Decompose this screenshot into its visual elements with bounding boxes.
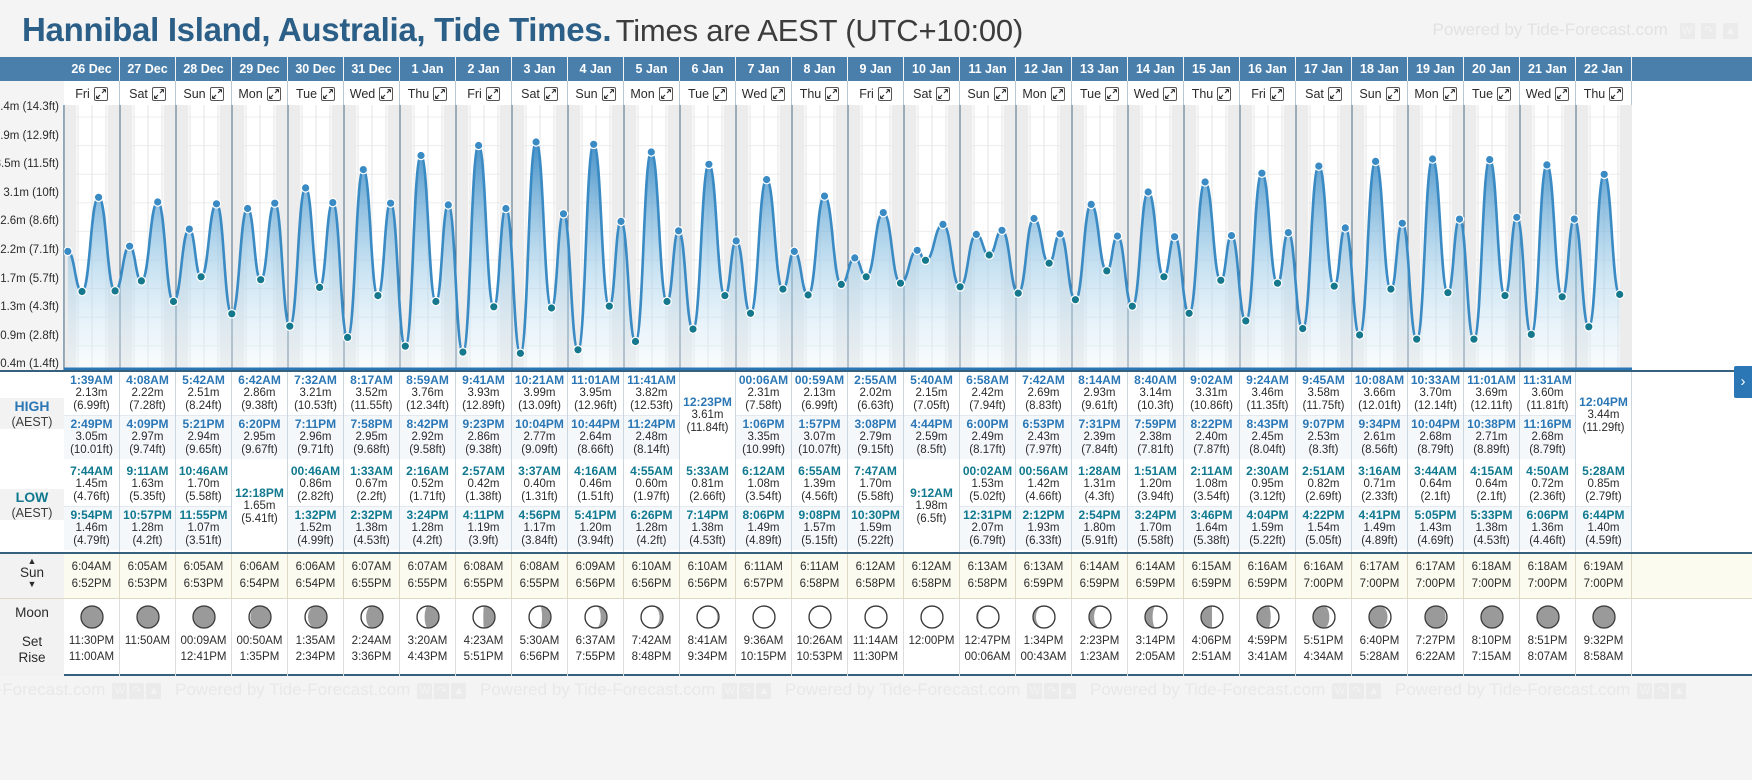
weekday-cell-thu[interactable]: Thu [1184, 81, 1240, 105]
low-tide-event: 3:16AM0.71m(2.33ft) [1352, 463, 1407, 506]
sunset-time: 6:55PM [400, 576, 455, 593]
tide-height-ft: (7.87ft) [1184, 444, 1239, 457]
watermark-badges: W↷▲ [1637, 681, 1688, 701]
high-tide-cell: 8:59AM3.76m(12.34ft)8:42PM2.92m(9.58ft) [400, 372, 456, 463]
weekday-cell-fri[interactable]: Fri [848, 81, 904, 105]
high-tide-event: 6:20PM2.95m(9.67ft) [232, 415, 287, 459]
low-tide-event: 6:06PM1.36m(4.46ft) [1520, 506, 1575, 550]
low-tide-cell: 4:55AM0.60m(1.97ft)6:26PM1.28m(4.2ft) [624, 463, 680, 554]
low-tide-cells: 7:44AM1.45m(4.76ft)9:54PM1.46m(4.79ft)9:… [64, 463, 1632, 554]
high-tide-event: 5:42AM2.51m(8.24ft) [176, 372, 231, 415]
tide-height-m: 1.38m [344, 522, 399, 535]
sunrise-time: 6:17AM [1408, 559, 1463, 576]
tide-height-m: 1.38m [1464, 522, 1519, 535]
sunset-time: 6:59PM [1072, 576, 1127, 593]
low-tide-cell: 9:11AM1.63m(5.35ft)10:57PM1.28m(4.2ft) [120, 463, 176, 554]
low-tide-cell: 2:57AM0.42m(1.38ft)4:11PM1.19m(3.9ft) [456, 463, 512, 554]
low-tide-cell: 3:16AM0.71m(2.33ft)4:41PM1.49m(4.89ft) [1352, 463, 1408, 554]
tide-time: 2:54PM [1072, 508, 1127, 522]
moonset-time: 1:34PM [1016, 633, 1071, 649]
expand-icon[interactable] [433, 87, 447, 101]
tide-height-ft: (11.84ft) [680, 422, 735, 435]
expand-icon[interactable] [544, 87, 558, 101]
tide-height-m: 2.59m [904, 431, 959, 444]
expand-icon[interactable] [602, 87, 616, 101]
sunset-time: 7:00PM [1520, 576, 1575, 593]
weekday-text: Fri [859, 82, 874, 105]
tide-height-ft: (3.12ft) [1240, 491, 1295, 504]
tide-height-m: 1.70m [1128, 522, 1183, 535]
weekday-cell-mon[interactable]: Mon [624, 81, 680, 105]
tide-time: 6:55AM [792, 464, 847, 478]
sun-cell: 6:06AM6:54PM [288, 554, 344, 600]
tide-height-ft: (10.01ft) [64, 444, 119, 457]
moonrise-time: 2:51AM [1184, 649, 1239, 665]
expand-icon[interactable] [1609, 87, 1623, 101]
high-tide-event: 5:21PM2.94m(9.65ft) [176, 415, 231, 459]
high-tide-cell: 11:01AM3.69m(12.11ft)10:38PM2.71m(8.89ft… [1464, 372, 1520, 463]
date-text: 19 Jan [1416, 62, 1455, 76]
tide-time: 11:41AM [624, 373, 679, 387]
sun-cell: 6:19AM7:00PM [1576, 554, 1632, 600]
high-tide-cell: 00:59AM2.13m(6.99ft)1:57PM3.07m(10.07ft) [792, 372, 848, 463]
date-header-cell: 12 Jan [1016, 57, 1072, 81]
tide-height-m: 3.46m [1240, 387, 1295, 400]
moonrise-time: 5:28AM [1352, 649, 1407, 665]
wind-badge-icon: W [1027, 683, 1042, 699]
tide-time: 2:55AM [848, 373, 903, 387]
tide-time: 8:22PM [1184, 417, 1239, 431]
tide-height-m: 1.08m [736, 478, 791, 491]
weekday-cell-thu[interactable]: Thu [1576, 81, 1632, 105]
expand-icon[interactable] [1270, 87, 1284, 101]
weekday-cell-sun[interactable]: Sun [960, 81, 1016, 105]
surf-badge-icon: ▲ [451, 683, 466, 699]
tide-time: 4:41PM [1352, 508, 1407, 522]
tide-height-ft: (11.81ft) [1520, 400, 1575, 413]
wind-badge-icon: W [1637, 683, 1652, 699]
watermark-top-text: Powered by Tide-Forecast.com [1433, 20, 1668, 39]
high-tide-event: 6:00PM2.49m(8.17ft) [960, 415, 1015, 459]
moon-cell: 12:47PM00:06AM [960, 599, 1016, 677]
tide-time: 7:47AM [848, 464, 903, 478]
moonset-label-text: Set [0, 634, 64, 649]
tide-time: 9:41AM [456, 373, 511, 387]
moon-phase [736, 599, 791, 633]
expand-icon[interactable] [267, 87, 281, 101]
expand-icon[interactable] [1051, 87, 1065, 101]
moonset-time: 6:40PM [1352, 633, 1407, 649]
tide-height-ft: (11.75ft) [1296, 400, 1351, 413]
sun-cell: 6:10AM6:56PM [624, 554, 680, 600]
page-title: Hannibal Island, Australia, Tide Times. … [22, 11, 1023, 49]
tide-height-m: 3.31m [1184, 387, 1239, 400]
tide-time: 9:54PM [64, 508, 119, 522]
weekday-cell-sat[interactable]: Sat [120, 81, 176, 105]
moon-phase-icon [135, 604, 161, 630]
high-tide-event: 11:41AM3.82m(12.53ft) [624, 372, 679, 415]
moon-phase-icon [863, 604, 889, 630]
watermark-badges: W↷▲ [417, 681, 468, 701]
high-tide-cell: 7:42AM2.69m(8.83ft)6:53PM2.43m(7.97ft) [1016, 372, 1072, 463]
low-tide-event: 9:12AM1.98m(6.5ft) [904, 485, 959, 528]
tide-time: 10:08AM [1352, 373, 1407, 387]
weekday-cell-wed[interactable]: Wed [1520, 81, 1576, 105]
weekday-text: Fri [467, 82, 482, 105]
moonrise-time: 10:15PM [736, 649, 791, 665]
moon-phase [1520, 599, 1575, 633]
weekday-cell-fri[interactable]: Fri [1240, 81, 1296, 105]
low-tide-cell: 2:30AM0.95m(3.12ft)4:04PM1.59m(5.22ft) [1240, 463, 1296, 554]
tide-time: 1:51AM [1128, 464, 1183, 478]
low-tide-label-text: LOW [16, 489, 49, 505]
moonset-time: 8:10PM [1464, 633, 1519, 649]
tide-height-ft: (3.9ft) [456, 535, 511, 548]
weekday-cell-sat[interactable]: Sat [1296, 81, 1352, 105]
tide-time: 5:21PM [176, 417, 231, 431]
tide-height-m: 3.66m [1352, 387, 1407, 400]
low-tide-event: 2:51AM0.82m(2.69ft) [1296, 463, 1351, 506]
high-tide-event: 6:58AM2.42m(7.94ft) [960, 372, 1015, 415]
high-tide-event: 10:04PM2.77m(9.09ft) [512, 415, 567, 459]
low-tide-event: 1:32PM1.52m(4.99ft) [288, 506, 343, 550]
tide-height-ft: (5.38ft) [1184, 535, 1239, 548]
sunrise-time: 6:13AM [1016, 559, 1071, 576]
tide-height-ft: (9.38ft) [232, 400, 287, 413]
weekday-text: Tue [296, 82, 317, 105]
tide-height-m: 1.53m [960, 478, 1015, 491]
tide-time: 00:06AM [736, 373, 791, 387]
moon-phase [1296, 599, 1351, 633]
high-tide-event: 00:06AM2.31m(7.58ft) [736, 372, 791, 415]
tide-height-m: 1.80m [1072, 522, 1127, 535]
weekday-cell-mon[interactable]: Mon [1016, 81, 1072, 105]
sun-cell: 6:05AM6:53PM [176, 554, 232, 600]
surf-badge-icon: ▲ [1671, 683, 1686, 699]
expand-icon[interactable] [379, 87, 393, 101]
low-tide-event: 9:54PM1.46m(4.79ft) [64, 506, 119, 550]
tide-height-ft: (8.04ft) [1240, 444, 1295, 457]
expand-icon[interactable] [486, 87, 500, 101]
sunrise-time: 6:09AM [568, 559, 623, 576]
expand-icon[interactable] [1555, 87, 1569, 101]
moonset-time: 8:41AM [680, 633, 735, 649]
tide-height-m: 2.77m [512, 431, 567, 444]
high-tide-event: 7:58PM2.95m(9.68ft) [344, 415, 399, 459]
tide-height-ft: (7.84ft) [1072, 444, 1127, 457]
low-tide-event: 9:08PM1.57m(5.15ft) [792, 506, 847, 550]
expand-icon[interactable] [825, 87, 839, 101]
high-tide-cell: 8:17AM3.52m(11.55ft)7:58PM2.95m(9.68ft) [344, 372, 400, 463]
low-tide-event: 10:46AM1.70m(5.58ft) [176, 463, 231, 506]
sunset-time: 6:58PM [792, 576, 847, 593]
tide-time: 10:33AM [1408, 373, 1463, 387]
moon-phase-icon [191, 604, 217, 630]
moonset-time: 10:26AM [792, 633, 847, 649]
weekday-text: Sat [521, 82, 540, 105]
tide-height-m: 1.52m [288, 522, 343, 535]
expand-icon[interactable] [321, 87, 335, 101]
high-tide-event: 9:34PM2.61m(8.56ft) [1352, 415, 1407, 459]
expand-icon[interactable] [210, 87, 224, 101]
sun-cell: 6:18AM7:00PM [1520, 554, 1576, 600]
high-tide-event: 7:32AM3.21m(10.53ft) [288, 372, 343, 415]
tide-height-m: 2.68m [1408, 431, 1463, 444]
tide-time: 2:57AM [456, 464, 511, 478]
tide-height-m: 2.07m [960, 522, 1015, 535]
moon-phase [456, 599, 511, 633]
low-tide-event: 6:55AM1.39m(4.56ft) [792, 463, 847, 506]
tide-time: 6:06PM [1520, 508, 1575, 522]
high-tide-cell: 2:55AM2.02m(6.63ft)3:08PM2.79m(9.15ft) [848, 372, 904, 463]
sunset-time: 7:00PM [1408, 576, 1463, 593]
weekday-cell-tue[interactable]: Tue [1072, 81, 1128, 105]
high-tide-event: 9:07PM2.53m(8.3ft) [1296, 415, 1351, 459]
high-tide-event: 2:49PM3.05m(10.01ft) [64, 415, 119, 459]
tide-height-ft: (9.65ft) [176, 444, 231, 457]
tide-height-ft: (7.05ft) [904, 400, 959, 413]
tide-height-m: 3.70m [1408, 387, 1463, 400]
moon-phase [1128, 599, 1183, 633]
tide-height-ft: (10.99ft) [736, 444, 791, 457]
sun-cell: 6:10AM6:56PM [680, 554, 736, 600]
tide-time: 4:22PM [1296, 508, 1351, 522]
tide-height-ft: (8.3ft) [1296, 444, 1351, 457]
refresh-badge-icon: ↷ [739, 683, 754, 699]
weekday-cell-sat[interactable]: Sat [512, 81, 568, 105]
weekday-cell-sun[interactable]: Sun [1352, 81, 1408, 105]
tide-height-m: 2.49m [960, 431, 1015, 444]
high-tide-cell: 7:32AM3.21m(10.53ft)7:11PM2.96m(9.71ft) [288, 372, 344, 463]
tide-height-m: 2.96m [288, 431, 343, 444]
expand-icon[interactable] [771, 87, 785, 101]
tide-time: 9:45AM [1296, 373, 1351, 387]
tide-height-m: 2.86m [456, 431, 511, 444]
moon-label-text: Moon [0, 605, 64, 620]
expand-icon[interactable] [1497, 87, 1511, 101]
tide-height-ft: (4.2ft) [624, 535, 679, 548]
date-text: 10 Jan [912, 62, 951, 76]
date-text: 7 Jan [748, 62, 780, 76]
weekday-cell-tue[interactable]: Tue [680, 81, 736, 105]
watermark-badges: W↷▲ [722, 681, 773, 701]
page-header: Hannibal Island, Australia, Tide Times. … [0, 0, 1752, 57]
moon-phase [232, 599, 287, 633]
tide-time: 7:31PM [1072, 417, 1127, 431]
date-text: 11 Jan [968, 62, 1006, 76]
low-tide-event: 4:56PM1.17m(3.84ft) [512, 506, 567, 550]
moon-phase [288, 599, 343, 633]
sun-cell: 6:06AM6:54PM [232, 554, 288, 600]
date-header-cell: 27 Dec [120, 57, 176, 81]
tide-height-m: 2.13m [64, 387, 119, 400]
moon-phase [792, 599, 847, 633]
tide-height-m: 3.05m [64, 431, 119, 444]
weekday-cell-mon[interactable]: Mon [232, 81, 288, 105]
tide-height-ft: (1.71ft) [400, 491, 455, 504]
low-tide-event: 1:33AM0.67m(2.2ft) [344, 463, 399, 506]
tide-height-m: 1.46m [64, 522, 119, 535]
tide-time: 5:40AM [904, 373, 959, 387]
low-tide-event: 6:44PM1.40m(4.59ft) [1576, 506, 1631, 550]
expand-icon[interactable] [878, 87, 892, 101]
tide-time: 10:57PM [120, 508, 175, 522]
sunrise-time: 6:11AM [792, 559, 847, 576]
date-header-row: 26 Dec27 Dec28 Dec29 Dec30 Dec31 Dec1 Ja… [0, 57, 1752, 81]
weekday-cell-fri[interactable]: Fri [64, 81, 120, 105]
tide-height-m: 2.45m [1240, 431, 1295, 444]
low-tide-event: 3:44AM0.64m(2.1ft) [1408, 463, 1463, 506]
tide-time: 11:16PM [1520, 417, 1575, 431]
sunset-time: 6:56PM [568, 576, 623, 593]
weekday-cell-mon[interactable]: Mon [1408, 81, 1464, 105]
date-header-cell: 31 Dec [344, 57, 400, 81]
expand-icon[interactable] [1105, 87, 1119, 101]
moon-cell: 9:32PM8:58AM [1576, 599, 1632, 677]
weekday-cell-wed[interactable]: Wed [736, 81, 792, 105]
date-header-cell: 7 Jan [736, 57, 792, 81]
low-tide-event: 12:31PM2.07m(6.79ft) [960, 506, 1015, 550]
weekday-cell-wed[interactable]: Wed [344, 81, 400, 105]
expand-icon[interactable] [1328, 87, 1342, 101]
moonset-time: 11:14AM [848, 633, 903, 649]
moon-phase [1352, 599, 1407, 633]
date-header-cell: 17 Jan [1296, 57, 1352, 81]
moonrise-time: 11:30PM [848, 649, 903, 665]
moonset-time: 3:20AM [400, 633, 455, 649]
moonset-time: 2:24AM [344, 633, 399, 649]
weekday-cell-tue[interactable]: Tue [1464, 81, 1520, 105]
low-tide-event: 8:06PM1.49m(4.89ft) [736, 506, 791, 550]
high-tide-event: 9:23PM2.86m(9.38ft) [456, 415, 511, 459]
tide-height-m: 1.54m [1296, 522, 1351, 535]
moon-cell: 7:42AM8:48PM [624, 599, 680, 677]
sun-cell: 6:16AM7:00PM [1296, 554, 1352, 600]
moon-cell: 4:23AM5:51PM [456, 599, 512, 677]
moon-phase [960, 599, 1015, 633]
weekday-cell-wed[interactable]: Wed [1128, 81, 1184, 105]
date-text: 29 Dec [239, 62, 279, 76]
date-header-cells: 26 Dec27 Dec28 Dec29 Dec30 Dec31 Dec1 Ja… [64, 57, 1632, 81]
high-tide-cell: 10:08AM3.66m(12.01ft)9:34PM2.61m(8.56ft) [1352, 372, 1408, 463]
expand-icon[interactable] [152, 87, 166, 101]
tide-height-m: 3.76m [400, 387, 455, 400]
tide-time: 1:28AM [1072, 464, 1127, 478]
moon-phase [120, 599, 175, 633]
moonrise-time: 8:58AM [1576, 649, 1631, 665]
expand-icon[interactable] [659, 87, 673, 101]
moon-phase [64, 599, 119, 633]
tide-height-m: 1.63m [120, 478, 175, 491]
high-tide-event: 8:22PM2.40m(7.87ft) [1184, 415, 1239, 459]
weekday-cell-sat[interactable]: Sat [904, 81, 960, 105]
expand-icon[interactable] [94, 87, 108, 101]
expand-icon[interactable] [994, 87, 1008, 101]
tide-height-m: 3.60m [1520, 387, 1575, 400]
tide-time: 00:02AM [960, 464, 1015, 478]
moonrise-time: 9:34PM [680, 649, 735, 665]
tide-time: 11:31AM [1520, 373, 1575, 387]
scroll-right-button[interactable]: › [1734, 366, 1752, 398]
moonrise-time: 3:36PM [344, 649, 399, 665]
weekday-cell-thu[interactable]: Thu [792, 81, 848, 105]
expand-icon[interactable] [936, 87, 950, 101]
tide-height-ft: (2.1ft) [1464, 491, 1519, 504]
tide-time: 2:51AM [1296, 464, 1351, 478]
tide-time: 3:16AM [1352, 464, 1407, 478]
moon-cell: 11:14AM11:30PM [848, 599, 904, 677]
high-tide-cell: 9:45AM3.58m(11.75ft)9:07PM2.53m(8.3ft) [1296, 372, 1352, 463]
expand-icon[interactable] [1443, 87, 1457, 101]
high-tide-label-text: HIGH [15, 398, 50, 414]
tide-time: 4:55AM [624, 464, 679, 478]
tide-height-m: 2.95m [232, 431, 287, 444]
high-tide-cell: 5:42AM2.51m(8.24ft)5:21PM2.94m(9.65ft) [176, 372, 232, 463]
low-tide-event: 4:15AM0.64m(2.1ft) [1464, 463, 1519, 506]
footer-watermark-text: Powered by Tide-Forecast.com [175, 680, 410, 699]
footer-watermark: Powered by Tide-Forecast.comW↷▲ [785, 680, 1078, 701]
sunrise-time: 6:07AM [400, 559, 455, 576]
moon-phase-icon [1535, 604, 1561, 630]
date-text: 5 Jan [636, 62, 668, 76]
moon-phase-icon [1479, 604, 1505, 630]
tide-time: 9:24AM [1240, 373, 1295, 387]
weekday-cell-fri[interactable]: Fri [456, 81, 512, 105]
tide-height-ft: (12.11ft) [1464, 400, 1519, 413]
weekday-cell-tue[interactable]: Tue [288, 81, 344, 105]
expand-icon[interactable] [1386, 87, 1400, 101]
low-tide-event: 1:51AM1.20m(3.94ft) [1128, 463, 1183, 506]
high-tide-event: 10:38PM2.71m(8.89ft) [1464, 415, 1519, 459]
moon-phase [1016, 599, 1071, 633]
sun-cell: 6:05AM6:53PM [120, 554, 176, 600]
tide-height-ft: (4.89ft) [1352, 535, 1407, 548]
high-tide-event: 8:17AM3.52m(11.55ft) [344, 372, 399, 415]
weekday-text: Fri [1251, 82, 1266, 105]
expand-icon[interactable] [1217, 87, 1231, 101]
tide-height-m: 2.22m [120, 387, 175, 400]
low-tide-cell: 4:50AM0.72m(2.36ft)6:06PM1.36m(4.46ft) [1520, 463, 1576, 554]
tide-time: 7:58PM [344, 417, 399, 431]
expand-icon[interactable] [1163, 87, 1177, 101]
weekday-text: Fri [75, 82, 90, 105]
moon-phase [1408, 599, 1463, 633]
low-tide-event: 2:57AM0.42m(1.38ft) [456, 463, 511, 506]
sun-row-label: ▲ Sun ▼ [0, 554, 64, 600]
date-text: 15 Jan [1192, 62, 1231, 76]
weekday-cell-sun[interactable]: Sun [568, 81, 624, 105]
expand-icon[interactable] [713, 87, 727, 101]
tide-height-ft: (8.79ft) [1520, 444, 1575, 457]
tide-forecast-page: Hannibal Island, Australia, Tide Times. … [0, 0, 1752, 780]
date-header-cell: 16 Jan [1240, 57, 1296, 81]
moonrise-time: 12:41PM [176, 649, 231, 665]
moon-phase [1184, 599, 1239, 633]
high-tide-event: 9:45AM3.58m(11.75ft) [1296, 372, 1351, 415]
tide-height-m: 2.38m [1128, 431, 1183, 444]
sunrise-time: 6:10AM [624, 559, 679, 576]
tide-height-m: 2.64m [568, 431, 623, 444]
moon-phase-icon [303, 604, 329, 630]
low-tide-event: 3:24PM1.28m(4.2ft) [400, 506, 455, 550]
tide-height-ft: (3.51ft) [176, 535, 231, 548]
tide-height-ft: (5.58ft) [1128, 535, 1183, 548]
sunset-time: 6:59PM [1128, 576, 1183, 593]
weekday-cell-sun[interactable]: Sun [176, 81, 232, 105]
moonrise-time: 8:07AM [1520, 649, 1575, 665]
high-tide-cell: 9:24AM3.46m(11.35ft)8:43PM2.45m(8.04ft) [1240, 372, 1296, 463]
weekday-cell-thu[interactable]: Thu [400, 81, 456, 105]
